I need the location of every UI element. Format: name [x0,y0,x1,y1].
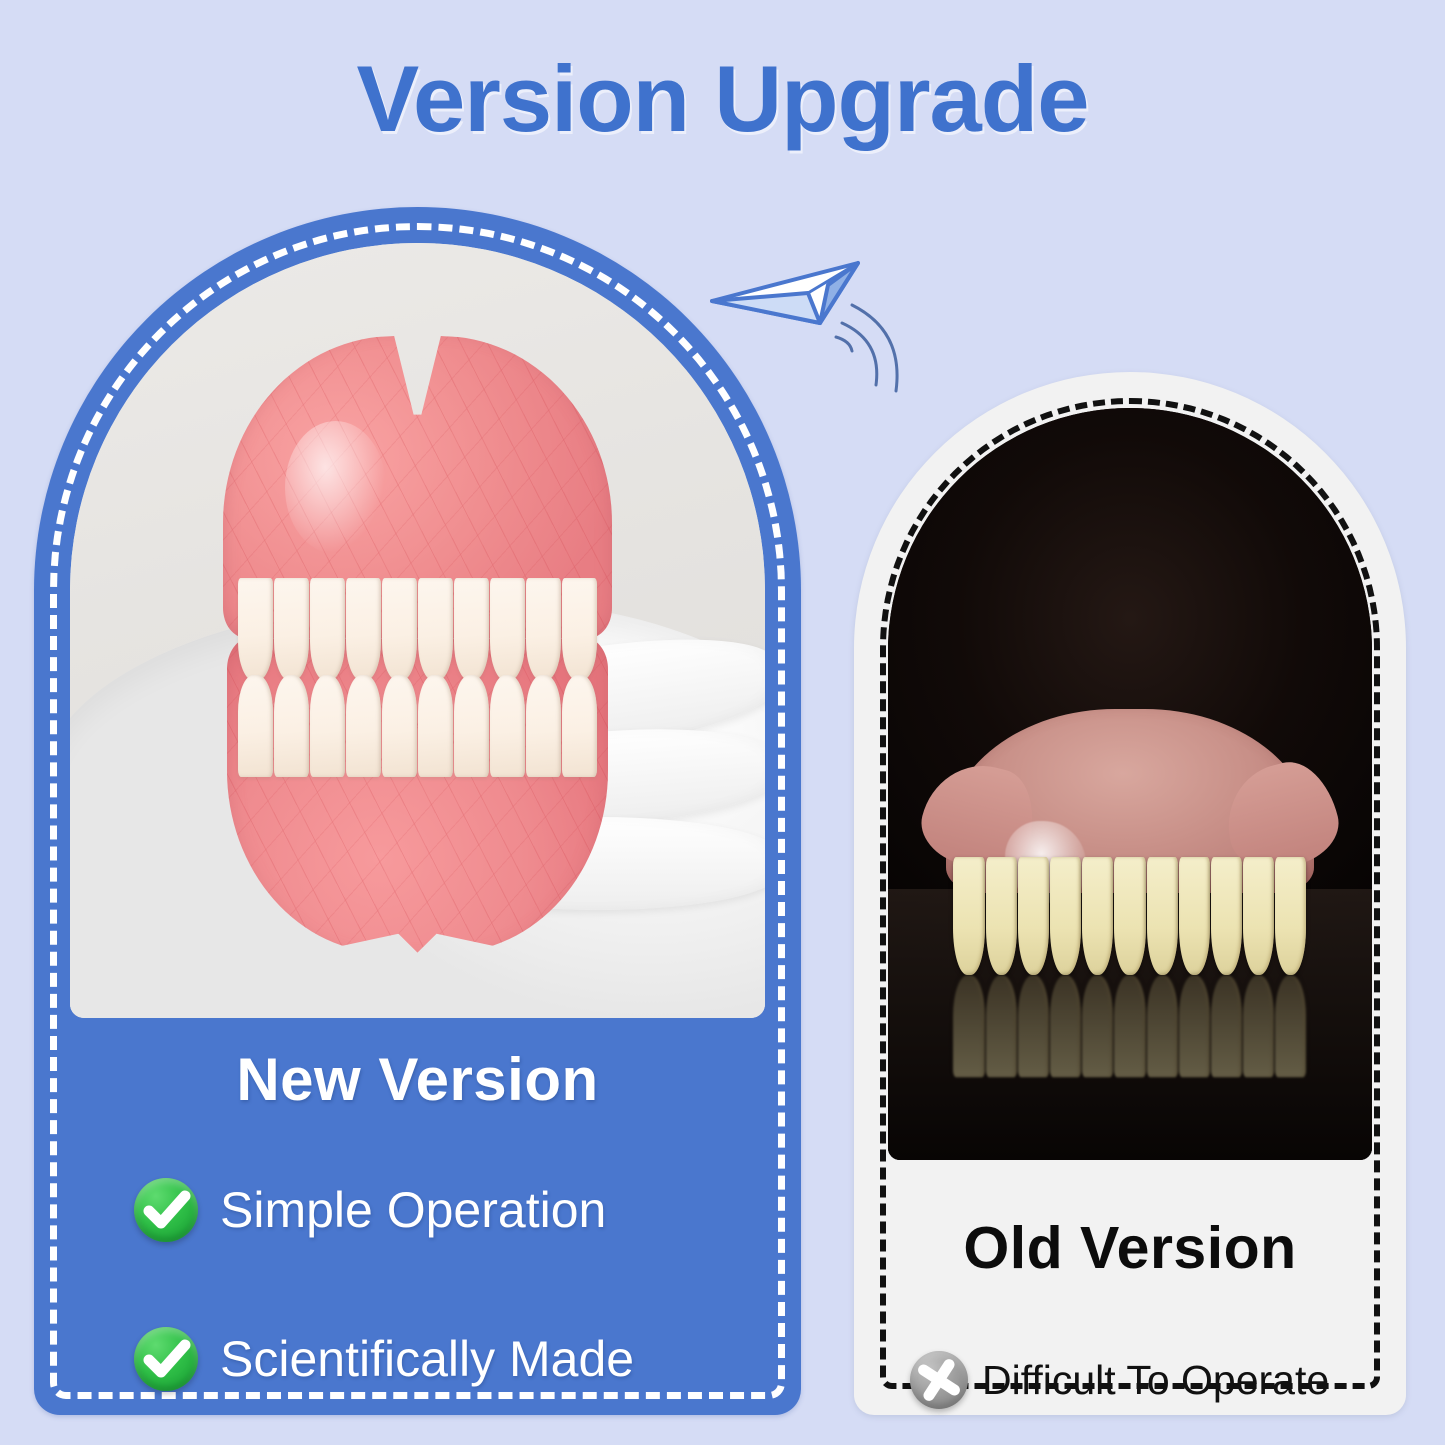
motion-trail-icon [836,305,897,391]
page-title: Version Upgrade [0,52,1445,146]
old-version-feature-list: Difficult To Operate Crude Production [910,1350,1380,1445]
specular-highlight [285,421,386,554]
list-item-label: Simple Operation [220,1181,606,1239]
check-circle-icon [134,1327,198,1391]
photo-scene-old [888,408,1372,1160]
upper-denture-model [946,709,1314,965]
paper-plane-icon [712,263,858,323]
lower-teeth-row [238,675,596,778]
cross-circle-icon [910,1351,968,1409]
old-version-title: Old Version [854,1214,1406,1282]
upper-teeth-row [238,578,596,681]
list-item: Simple Operation [134,1171,774,1249]
denture-teeth-row [953,857,1306,975]
new-version-title: New Version [34,1045,801,1114]
old-version-panel: Old Version Difficult To Operate [854,372,1406,1415]
new-version-panel: New Version Simple Operation Scientifica… [34,207,801,1415]
list-item-label: Scientifically Made [220,1330,634,1388]
old-version-photo [888,408,1372,1160]
list-item: Difficult To Operate [910,1350,1380,1410]
check-circle-icon [134,1178,198,1242]
photo-scene-new [70,243,765,1018]
list-item: Scientifically Made [134,1320,774,1398]
full-denture-model [223,336,612,941]
teeth-reflection [953,975,1306,1077]
paper-plane-decoration [700,245,940,445]
new-version-photo [70,243,765,1018]
new-version-feature-list: Simple Operation Scientifically Made Qua… [134,1171,774,1445]
list-item-label: Difficult To Operate [982,1357,1329,1404]
